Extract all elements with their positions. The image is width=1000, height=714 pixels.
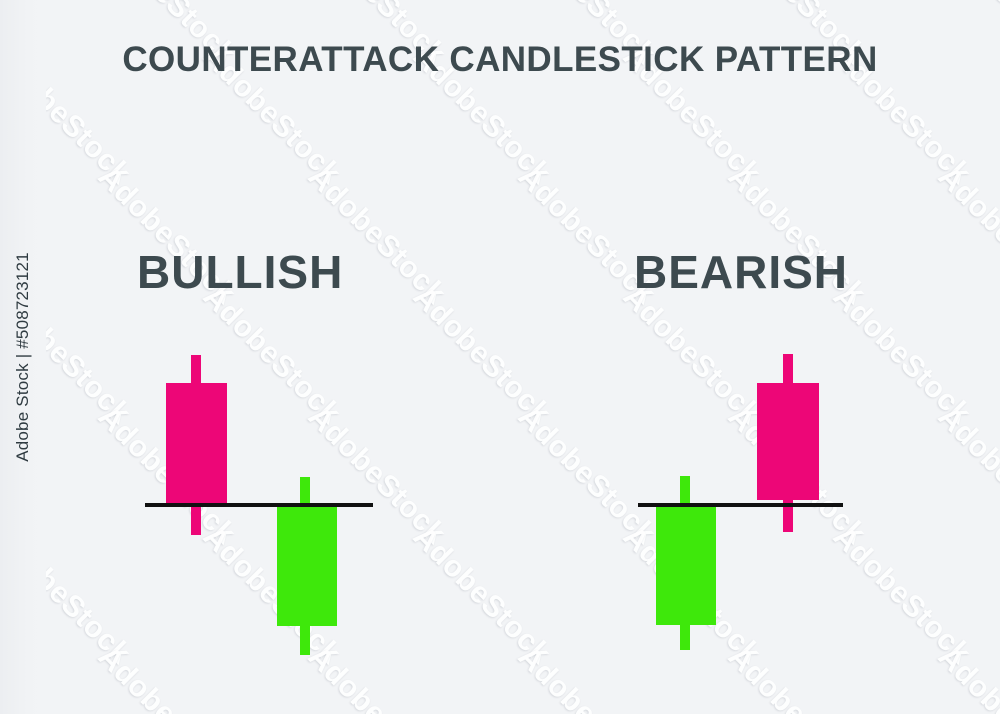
- panel-label-bullish: BULLISH: [137, 249, 343, 295]
- page-title: COUNTERATTACK CANDLESTICK PATTERN: [0, 40, 1000, 80]
- bearish-candle-2-body: [757, 383, 819, 500]
- stock-credit-strip: Adobe Stock | #508723121: [0, 0, 46, 714]
- bullish-baseline: [145, 503, 373, 507]
- stock-credit-label: Adobe Stock | #508723121: [13, 252, 33, 462]
- bearish-baseline: [638, 503, 843, 507]
- chart-canvas: COUNTERATTACK CANDLESTICK PATTERN BULLIS…: [0, 0, 1000, 714]
- bullish-candle-1-body: [166, 383, 227, 503]
- bullish-candle-2-body: [277, 505, 337, 626]
- bearish-candle-1-body: [656, 507, 716, 625]
- panel-label-bearish: BEARISH: [634, 249, 848, 295]
